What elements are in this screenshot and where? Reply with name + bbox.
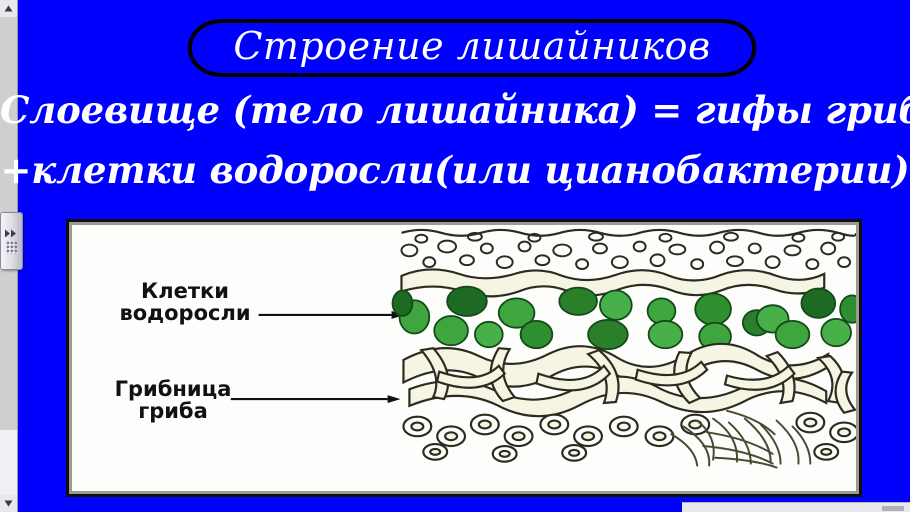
scrollbar-grip-icon bbox=[6, 241, 17, 254]
taskbar-chip bbox=[882, 506, 904, 511]
double-chevron-right-icon bbox=[4, 229, 19, 238]
presentation-slide: Строение лишайников Слоевище (тело лишай… bbox=[0, 0, 910, 512]
figure-label-algae: Клетки водоросли bbox=[90, 280, 280, 325]
caret-down-icon bbox=[4, 500, 13, 507]
figure-canvas: Клетки водоросли Грибница гриба bbox=[72, 225, 856, 491]
lichen-diagram-svg bbox=[72, 225, 856, 491]
scrollbar-track-lower[interactable] bbox=[0, 430, 17, 495]
scroll-down-button[interactable] bbox=[0, 495, 17, 512]
title-banner: Строение лишайников bbox=[188, 19, 756, 77]
vertical-scrollbar[interactable] bbox=[0, 0, 18, 512]
page-title: Строение лишайников bbox=[233, 27, 710, 65]
figure-label-hyphae: Грибница гриба bbox=[78, 378, 268, 423]
subtitle-line-2: +клетки водоросли(или цианобактерии) bbox=[0, 152, 910, 189]
subtitle-line-1: Слоевище (тело лишайника) = гифы гриба bbox=[0, 92, 910, 129]
caret-up-icon bbox=[4, 5, 13, 12]
scroll-up-button[interactable] bbox=[0, 0, 17, 17]
taskbar-strip[interactable] bbox=[682, 502, 910, 512]
scrollbar-thumb[interactable] bbox=[0, 212, 23, 270]
lichen-cross-section-figure: Клетки водоросли Грибница гриба bbox=[66, 219, 862, 497]
